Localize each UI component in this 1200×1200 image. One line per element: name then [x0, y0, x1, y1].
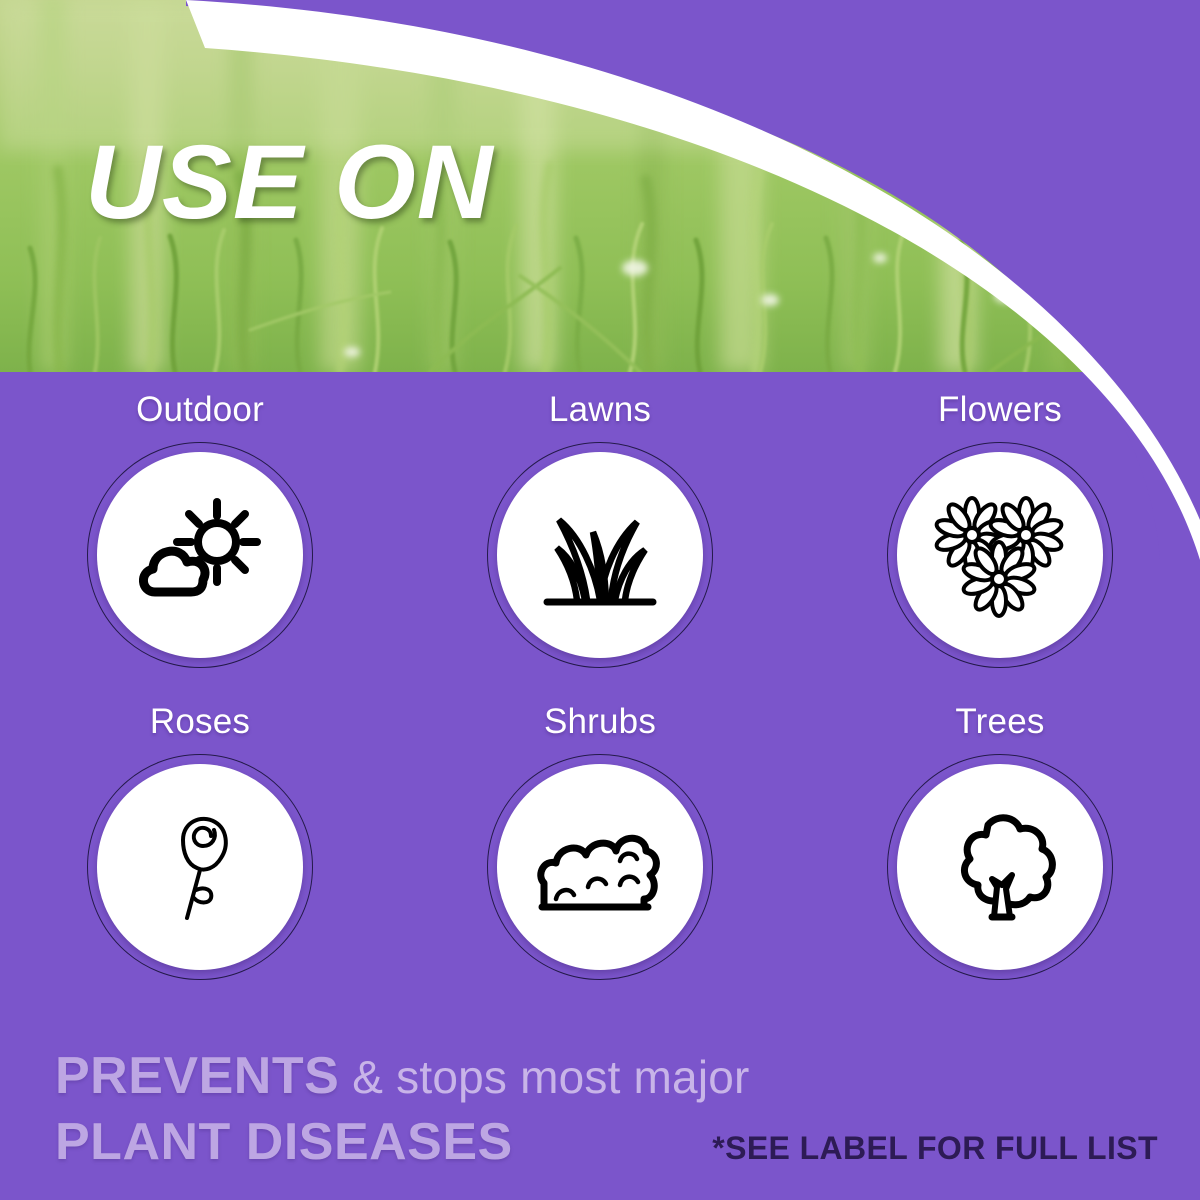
use-on-label-outdoor: Outdoor	[136, 392, 264, 427]
use-on-icon-grid: Outdoor	[0, 392, 1200, 983]
use-on-item-trees[interactable]: Trees	[800, 704, 1200, 983]
page-title: USE ON	[85, 130, 494, 235]
footer-line-1: PREVENTS & stops most major	[55, 1050, 750, 1102]
sun-cloud-icon	[125, 480, 275, 630]
use-on-item-lawns[interactable]: Lawns	[400, 392, 800, 671]
footer-line-2: PLANT DISEASES	[55, 1116, 513, 1168]
disc-trees	[897, 764, 1103, 970]
use-on-item-flowers[interactable]: Flowers	[800, 392, 1200, 671]
footer-claims: PREVENTS & stops most major PLANT DISEAS…	[0, 1024, 1200, 1200]
three-daisies-icon	[924, 479, 1076, 631]
shrub-bush-icon	[524, 791, 676, 943]
rose-bud-icon	[125, 792, 275, 942]
use-on-label-flowers: Flowers	[938, 392, 1062, 427]
disc-outdoor	[97, 452, 303, 658]
footer-prevents-word: PREVENTS	[55, 1047, 339, 1105]
use-on-label-lawns: Lawns	[549, 392, 651, 427]
footer-stops-phrase: & stops most major	[339, 1051, 749, 1103]
disc-roses	[97, 764, 303, 970]
header-banner: USE ON	[0, 0, 1200, 372]
footer-see-label-note: *SEE LABEL FOR FULL LIST	[712, 1130, 1158, 1167]
footer-plant-diseases-word: PLANT DISEASES	[55, 1113, 513, 1171]
disc-lawns	[497, 452, 703, 658]
use-on-label-trees: Trees	[955, 704, 1044, 739]
use-on-label-roses: Roses	[150, 704, 250, 739]
icon-row-2: Roses	[0, 704, 1200, 983]
use-on-label-shrubs: Shrubs	[544, 704, 656, 739]
use-on-item-roses[interactable]: Roses	[0, 704, 400, 983]
use-on-item-outdoor[interactable]: Outdoor	[0, 392, 400, 671]
grass-blades-icon	[525, 480, 675, 630]
infographic-panel: USE ON Outdoor	[0, 0, 1200, 1200]
use-on-item-shrubs[interactable]: Shrubs	[400, 704, 800, 983]
tree-icon	[924, 791, 1076, 943]
disc-shrubs	[497, 764, 703, 970]
disc-flowers	[897, 452, 1103, 658]
icon-row-1: Outdoor	[0, 392, 1200, 671]
